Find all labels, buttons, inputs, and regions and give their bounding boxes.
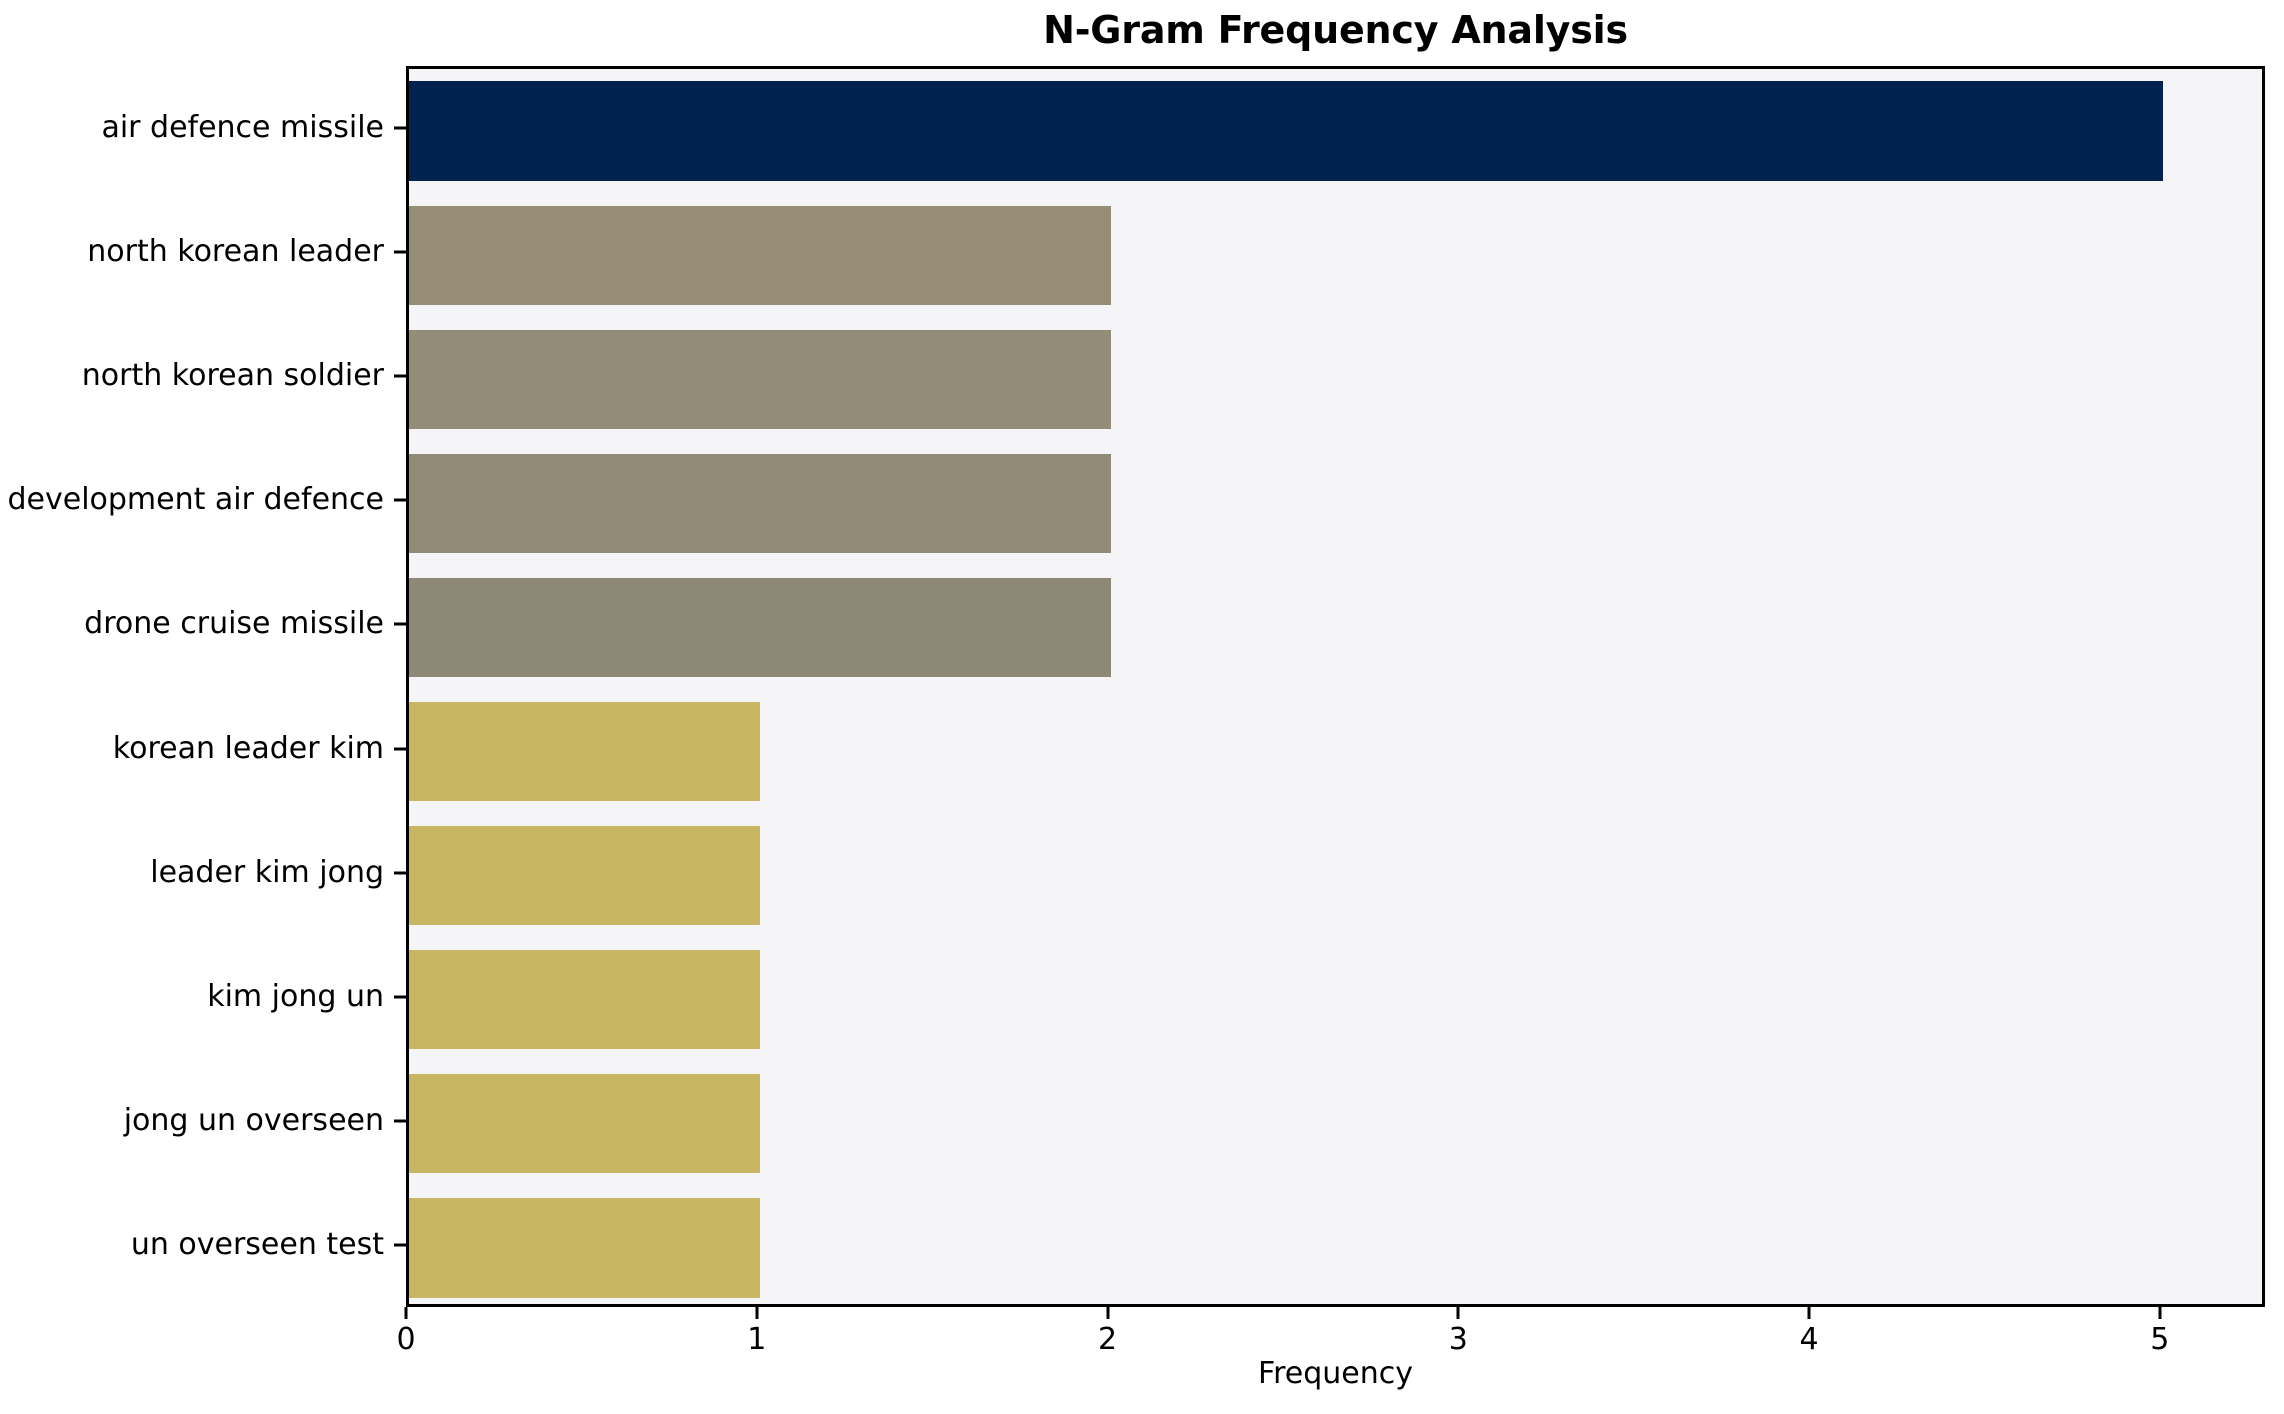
y-tick-label: un overseen test: [131, 1228, 384, 1262]
ngram-frequency-chart: N-Gram Frequency Analysis air defence mi…: [0, 0, 2284, 1414]
y-tick-mark: [394, 251, 406, 254]
chart-title: N-Gram Frequency Analysis: [406, 6, 2265, 54]
bar: [409, 330, 1111, 429]
bar: [409, 826, 760, 925]
x-axis-title: Frequency: [406, 1356, 2265, 1392]
y-tick-mark: [394, 747, 406, 750]
y-tick-label: korean leader kim: [113, 732, 384, 766]
y-tick-label: drone cruise missile: [84, 607, 384, 641]
x-tick-label: 3: [1449, 1323, 1468, 1357]
y-axis-labels: air defence missilenorth korean leaderno…: [0, 66, 406, 1307]
bar: [409, 206, 1111, 305]
x-tick-mark: [755, 1307, 758, 1319]
x-tick-label: 4: [1799, 1323, 1818, 1357]
y-tick-label: kim jong un: [207, 980, 384, 1014]
bar: [409, 702, 760, 801]
y-tick-mark: [394, 375, 406, 378]
y-tick-label: north korean leader: [87, 235, 384, 269]
y-tick-mark: [394, 1243, 406, 1246]
bar: [409, 454, 1111, 553]
plot-area: [406, 66, 2265, 1307]
bar: [409, 81, 2163, 180]
x-tick-label: 0: [396, 1323, 415, 1357]
y-tick-mark: [394, 127, 406, 130]
y-tick-mark: [394, 995, 406, 998]
y-tick-label: development air defence: [7, 483, 384, 517]
x-tick-mark: [2158, 1307, 2161, 1319]
y-tick-label: jong un overseen: [124, 1104, 384, 1138]
x-tick-label: 1: [747, 1323, 766, 1357]
bars-layer: [409, 69, 2262, 1304]
y-tick-label: air defence missile: [101, 111, 384, 145]
y-tick-mark: [394, 1119, 406, 1122]
x-tick-mark: [1106, 1307, 1109, 1319]
x-tick-mark: [405, 1307, 408, 1319]
x-tick-label: 5: [2150, 1323, 2169, 1357]
x-tick-mark: [1457, 1307, 1460, 1319]
bar: [409, 1074, 760, 1173]
bar: [409, 1198, 760, 1297]
bar: [409, 950, 760, 1049]
y-tick-label: north korean soldier: [82, 359, 384, 393]
x-tick-mark: [1808, 1307, 1811, 1319]
y-tick-mark: [394, 499, 406, 502]
y-tick-mark: [394, 871, 406, 874]
bar: [409, 578, 1111, 677]
y-tick-label: leader kim jong: [150, 856, 384, 890]
x-tick-label: 2: [1098, 1323, 1117, 1357]
y-tick-mark: [394, 623, 406, 626]
